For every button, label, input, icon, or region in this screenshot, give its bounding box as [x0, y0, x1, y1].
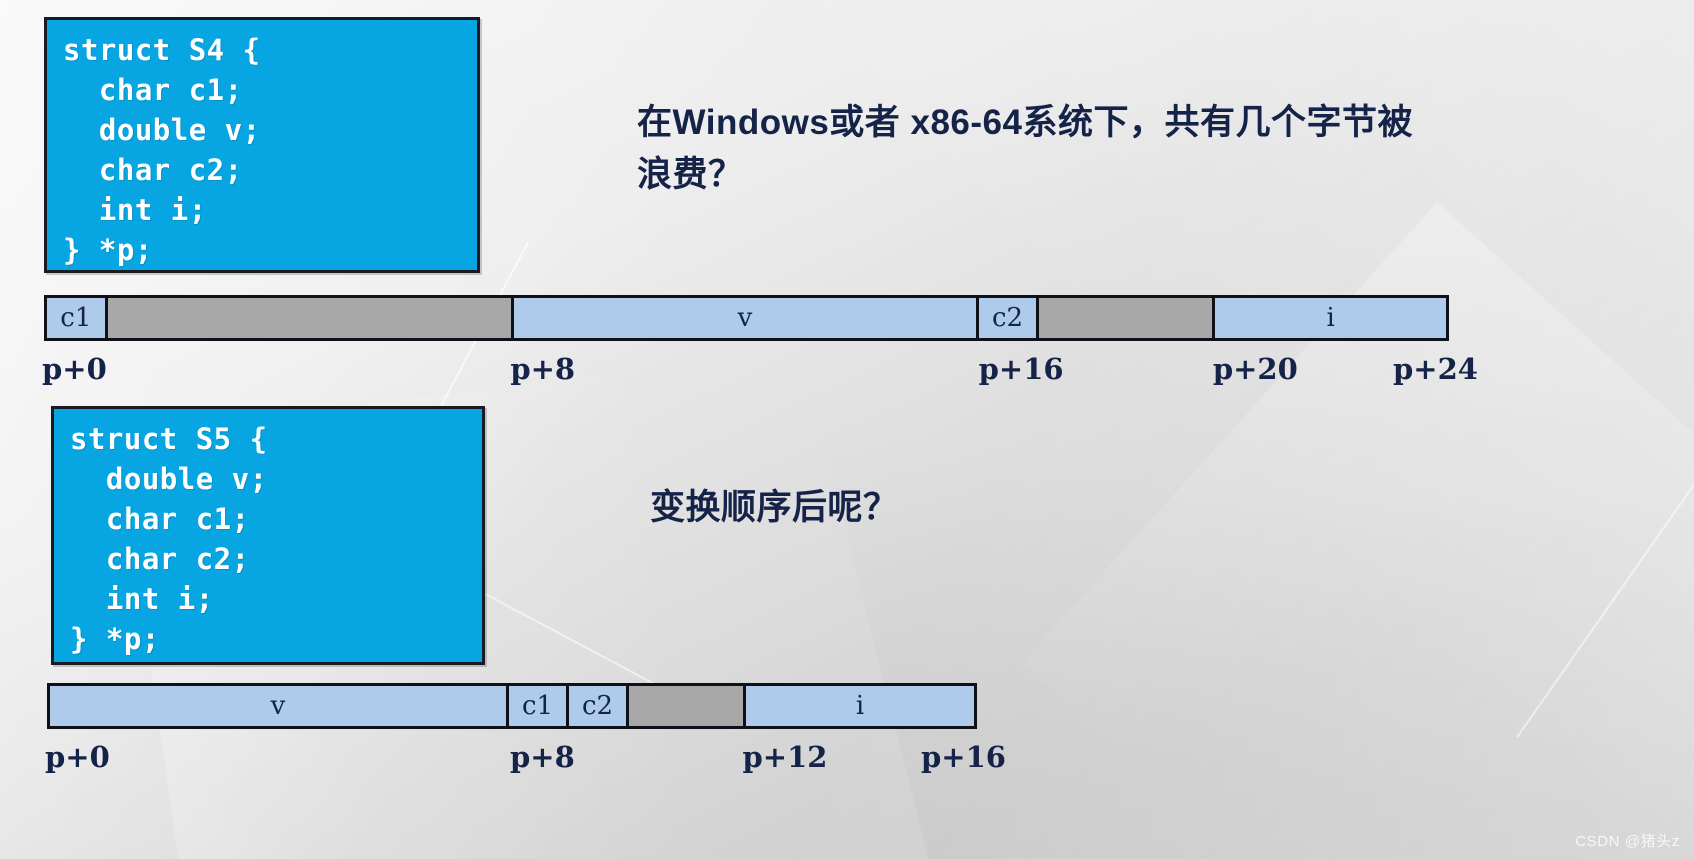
memory-segment-i: i — [1215, 298, 1446, 338]
memory-segment-padding — [1039, 298, 1215, 338]
question-text-2: 变换顺序后呢？ — [650, 484, 899, 532]
memory-segment-c2: c2 — [569, 686, 629, 726]
memory-segment-c1: c1 — [47, 298, 108, 338]
offset-ruler-s5: p+0p+8p+12p+16 — [0, 740, 1694, 774]
offset-label-p12: p+12 — [743, 740, 828, 774]
memory-layout-bar-s5: vc1c2i — [47, 683, 977, 729]
code-line: char c2; — [70, 539, 468, 579]
code-line: struct S5 { — [70, 419, 468, 459]
code-line: char c1; — [63, 70, 463, 110]
code-line: double v; — [70, 459, 468, 499]
code-line: int i; — [63, 190, 463, 230]
offset-label-p8: p+8 — [510, 352, 575, 386]
code-block-struct-s5: struct S5 { double v; char c1; char c2; … — [51, 406, 485, 665]
slide-canvas: struct S4 { char c1; double v; char c2; … — [0, 0, 1694, 859]
memory-segment-v: v — [514, 298, 978, 338]
offset-label-p16: p+16 — [921, 740, 1006, 774]
offset-label-p24: p+24 — [1393, 352, 1478, 386]
code-line: } *p; — [70, 619, 468, 659]
code-line: struct S4 { — [63, 30, 463, 70]
question-text-1: 在Windows或者 x86-64系统下，共有几个字节被浪费？ — [637, 97, 1427, 201]
offset-label-p0: p+0 — [45, 740, 110, 774]
offset-label-p20: p+20 — [1213, 352, 1298, 386]
code-line: char c1; — [70, 499, 468, 539]
memory-segment-c2: c2 — [979, 298, 1040, 338]
memory-segment-v: v — [50, 686, 509, 726]
code-line: char c2; — [63, 150, 463, 190]
memory-layout-bar-s4: c1vc2i — [44, 295, 1449, 341]
code-line: int i; — [70, 579, 468, 619]
offset-ruler-s4: p+0p+8p+16p+20p+24 — [0, 352, 1694, 386]
watermark: CSDN @猪头z — [1575, 830, 1680, 851]
memory-segment-padding — [108, 298, 515, 338]
memory-segment-i: i — [746, 686, 974, 726]
code-block-struct-s4: struct S4 { char c1; double v; char c2; … — [44, 17, 480, 273]
offset-label-p16: p+16 — [979, 352, 1064, 386]
code-line: } *p; — [63, 230, 463, 270]
offset-label-p8: p+8 — [510, 740, 575, 774]
memory-segment-padding — [629, 686, 746, 726]
code-line: double v; — [63, 110, 463, 150]
memory-segment-c1: c1 — [509, 686, 569, 726]
offset-label-p0: p+0 — [42, 352, 107, 386]
